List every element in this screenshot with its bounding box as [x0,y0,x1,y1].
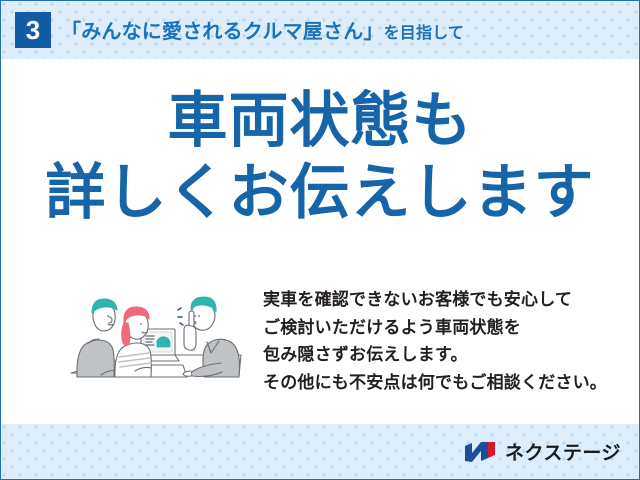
headline: 車両状態も 詳しくお伝えします [1,89,639,224]
body-copy-line-4: その他にも不安点は何でもご相談ください。 [263,369,615,397]
body-copy-line-3: 包み隠さずお伝えします。 [263,341,615,369]
header-title-suffix: を目指して [384,25,465,42]
header-title: 「みんなに愛されるクルマ屋さん」を目指して [61,15,464,44]
body-copy-line-1: 実車を確認できないお客様でも安心して [263,286,615,314]
body-copy: 実車を確認できないお客様でも安心して ご検討いただけるよう車両状態を 包み隠さず… [263,286,615,397]
headline-line-1: 車両状態も [1,89,639,153]
brand-logo-text: ネクステージ [505,438,621,465]
nextage-n-mark-icon [464,440,498,464]
headline-line-2: 詳しくお伝えします [1,161,639,225]
advertisement-frame: 3 「みんなに愛されるクルマ屋さん」を目指して 車両状態も 詳しくお伝えします [0,0,640,480]
brand-logo: ネクステージ [464,438,621,465]
step-number-badge: 3 [15,12,51,48]
consultation-illustration [63,277,249,395]
header-title-quoted: 「みんなに愛されるクルマ屋さん」 [61,21,384,43]
body-copy-line-2: ご検討いただけるよう車両状態を [263,314,615,342]
